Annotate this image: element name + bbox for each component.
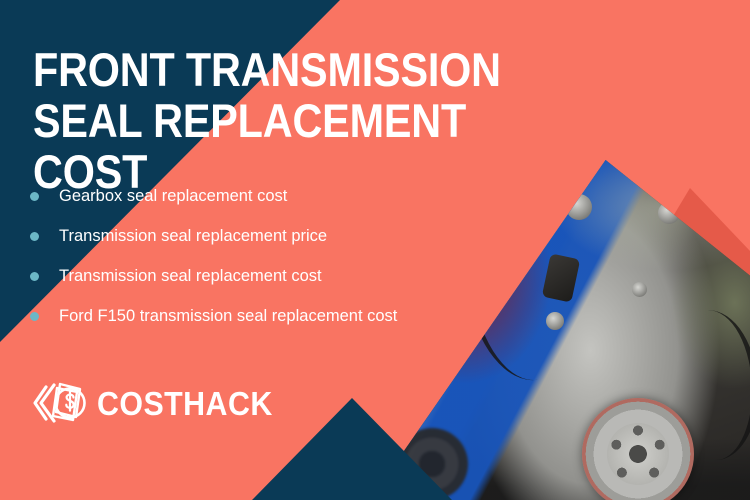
page-title: Front Transmission Seal Replacement Cost [33, 44, 526, 197]
list-item-label: Gearbox seal replacement cost [59, 186, 287, 206]
bullet-dot-icon [30, 272, 39, 281]
bullet-dot-icon [30, 312, 39, 321]
costhack-logo[interactable]: COSTHACK [33, 378, 288, 428]
list-item-label: Transmission seal replacement cost [59, 266, 322, 286]
list-item: Ford F150 transmission seal replacement … [30, 296, 397, 336]
banner-content: Front Transmission Seal Replacement Cost… [0, 0, 750, 500]
bullet-dot-icon [30, 192, 39, 201]
banner: Front Transmission Seal Replacement Cost… [0, 0, 750, 500]
money-stack-coin-dollar-icon [33, 378, 87, 428]
logo-wordmark: COSTHACK [97, 387, 273, 420]
keyword-list: Gearbox seal replacement cost Transmissi… [30, 176, 397, 336]
bullet-dot-icon [30, 232, 39, 241]
list-item: Gearbox seal replacement cost [30, 176, 397, 216]
list-item-label: Ford F150 transmission seal replacement … [59, 306, 397, 326]
list-item-label: Transmission seal replacement price [59, 226, 327, 246]
list-item: Transmission seal replacement cost [30, 256, 397, 296]
list-item: Transmission seal replacement price [30, 216, 397, 256]
